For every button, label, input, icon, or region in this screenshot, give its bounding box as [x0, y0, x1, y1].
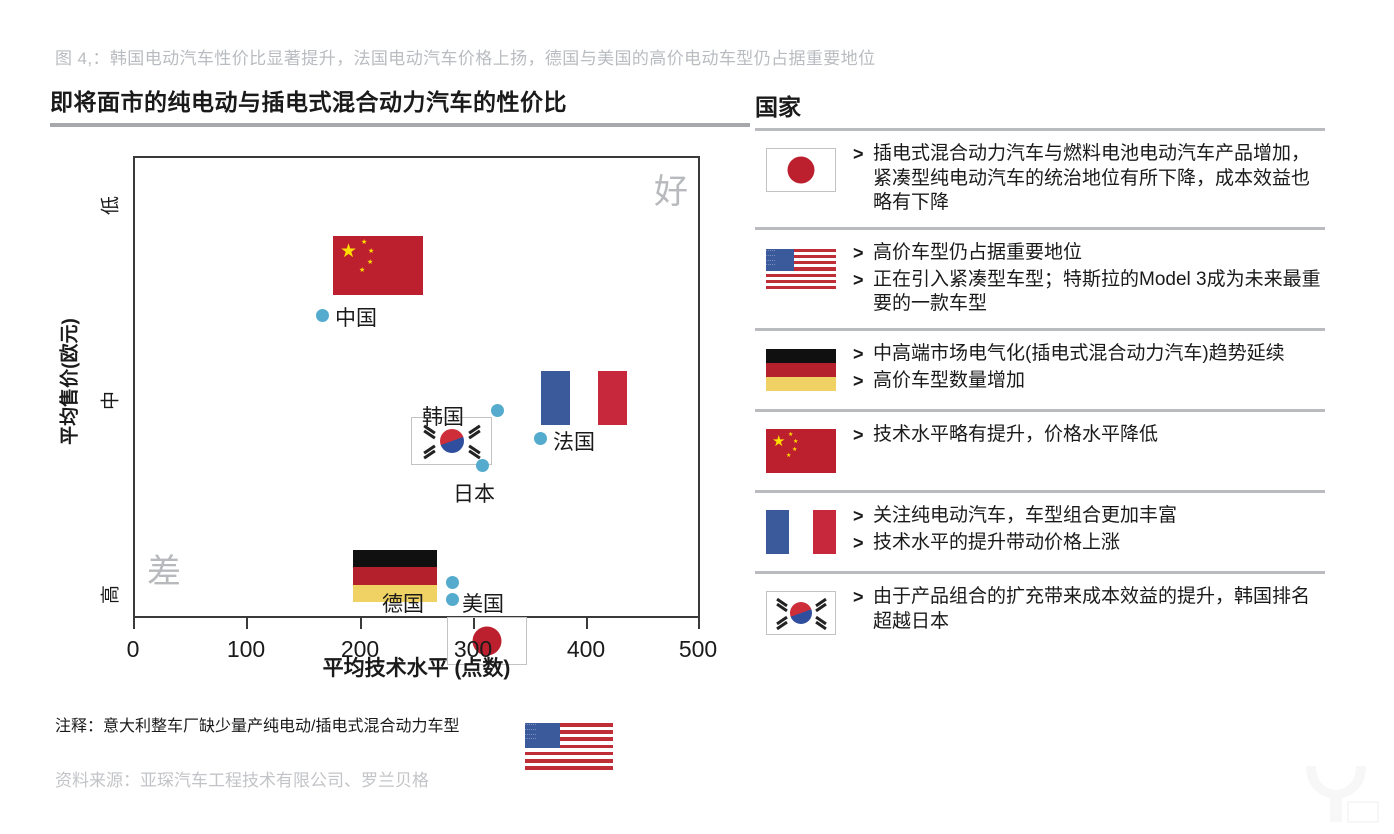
- flag-jp-icon: [766, 148, 836, 192]
- chart-panel-title: 即将面市的纯电动与插电式混合动力汽车的性价比: [50, 88, 750, 123]
- row-body-us: > 高价车型仍占据重要地位 > 正在引入紧凑型车型；特斯拉的Model 3成为未…: [847, 241, 1325, 317]
- watermark-logo: [1288, 756, 1384, 826]
- country-row-fr[interactable]: > 关注纯电动汽车，车型组合更加丰富 > 技术水平的提升带动价格上涨: [755, 490, 1325, 571]
- bullet-text: 高价车型数量增加: [873, 369, 1325, 394]
- chevron-right-icon: >: [853, 268, 873, 292]
- country-panel-title: 国家: [755, 88, 1325, 128]
- y-tick-low: 低: [96, 191, 123, 221]
- chevron-right-icon: >: [853, 342, 873, 366]
- chevron-right-icon: >: [853, 423, 873, 447]
- bullet-item: > 由于产品组合的扩充带来成本效益的提升，韩国排名超越日本: [853, 585, 1325, 634]
- chevron-right-icon: >: [853, 504, 873, 528]
- row-body-de: > 中高端市场电气化(插电式混合动力汽车)趋势延续 > 高价车型数量增加: [847, 342, 1325, 393]
- data-point-fr[interactable]: [534, 432, 547, 445]
- bullet-text: 中高端市场电气化(插电式混合动力汽车)趋势延续: [873, 342, 1325, 367]
- bullet-item: > 高价车型仍占据重要地位: [853, 241, 1325, 266]
- country-row-us[interactable]: ···················· > 高价车型仍占据重要地位 > 正在引…: [755, 227, 1325, 328]
- chevron-right-icon: >: [853, 369, 873, 393]
- country-row-de[interactable]: > 中高端市场电气化(插电式混合动力汽车)趋势延续 > 高价车型数量增加: [755, 328, 1325, 409]
- bullet-item: > 技术水平略有提升，价格水平降低: [853, 423, 1325, 448]
- bullet-item: > 技术水平的提升带动价格上涨: [853, 531, 1325, 556]
- flag-cell-cn: ★ ★ ★ ★ ★: [755, 423, 847, 479]
- chart-flag-cn: ★ ★ ★ ★ ★: [333, 236, 423, 295]
- bullet-text: 技术水平的提升带动价格上涨: [873, 531, 1325, 556]
- x-axis: 0 100 200 300 400 500: [133, 618, 700, 619]
- flag-cell-fr: [755, 504, 847, 560]
- country-row-kr[interactable]: > 由于产品组合的扩充带来成本效益的提升，韩国排名超越日本: [755, 571, 1325, 652]
- data-point-us[interactable]: [446, 576, 459, 589]
- chart-flag-fr: [541, 371, 627, 425]
- figure-caption: 图 4,：韩国电动汽车性价比显著提升，法国电动汽车价格上扬，德国与美国的高价电动…: [55, 44, 1355, 69]
- data-label-de: 德国: [382, 588, 424, 618]
- flag-cn-icon: ★ ★ ★ ★ ★: [766, 429, 836, 473]
- data-point-kr[interactable]: [491, 404, 504, 417]
- x-axis-title: 平均技术水平 (点数): [133, 652, 700, 682]
- annotation-bad: 差: [147, 544, 181, 593]
- data-label-cn: 中国: [335, 302, 377, 332]
- data-label-fr: 法国: [553, 426, 595, 456]
- country-row-cn[interactable]: ★ ★ ★ ★ ★ > 技术水平略有提升，价格水平降低: [755, 409, 1325, 490]
- y-tick-high: 高: [96, 580, 123, 610]
- flag-cell-jp: [755, 142, 847, 198]
- bullet-text: 高价车型仍占据重要地位: [873, 241, 1325, 266]
- chevron-right-icon: >: [853, 585, 873, 609]
- data-label-jp: 日本: [453, 478, 495, 508]
- chart-title-divider: [50, 123, 750, 127]
- data-label-kr: 韩国: [422, 401, 464, 431]
- flag-kr-icon: [766, 591, 836, 635]
- flag-de-icon: [766, 349, 836, 391]
- annotation-good: 好: [654, 164, 688, 213]
- country-row-jp[interactable]: > 插电式混合动力汽车与燃料电池电动汽车产品增加，紧凑型纯电动汽车的统治地位有所…: [755, 128, 1325, 227]
- bullet-text: 插电式混合动力汽车与燃料电池电动汽车产品增加，紧凑型纯电动汽车的统治地位有所下降…: [873, 142, 1325, 216]
- bullet-text: 技术水平略有提升，价格水平降低: [873, 423, 1325, 448]
- footnote: 注释：意大利整车厂缺少量产纯电动/插电式混合动力车型: [55, 712, 459, 736]
- data-point-cn[interactable]: [316, 309, 329, 322]
- country-panel: 国家 > 插电式混合动力汽车与燃料电池电动汽车产品增加，紧凑型纯电动汽车的统治地…: [755, 88, 1325, 652]
- flag-cell-de: [755, 342, 847, 398]
- source-line: 资料来源：亚琛汽车工程技术有限公司、罗兰贝格: [55, 766, 429, 791]
- data-point-de[interactable]: [446, 593, 459, 606]
- scatter-chart: 平均售价(欧元) 低 中 高 好 差 ★ ★ ★ ★ ★ 中国 韩国: [50, 140, 750, 710]
- bullet-text: 关注纯电动汽车，车型组合更加丰富: [873, 504, 1325, 529]
- chart-flag-us: ························: [525, 723, 613, 770]
- data-label-us: 美国: [462, 588, 504, 618]
- y-axis-title: 平均售价(欧元): [55, 102, 82, 662]
- row-body-cn: > 技术水平略有提升，价格水平降低: [847, 423, 1325, 448]
- chart-panel-header: 即将面市的纯电动与插电式混合动力汽车的性价比: [50, 88, 750, 127]
- row-body-fr: > 关注纯电动汽车，车型组合更加丰富 > 技术水平的提升带动价格上涨: [847, 504, 1325, 555]
- flag-fr-icon: [766, 510, 836, 554]
- flag-cell-kr: [755, 585, 847, 641]
- bullet-item: > 中高端市场电气化(插电式混合动力汽车)趋势延续: [853, 342, 1325, 367]
- row-body-jp: > 插电式混合动力汽车与燃料电池电动汽车产品增加，紧凑型纯电动汽车的统治地位有所…: [847, 142, 1325, 216]
- plot-area: 好 差 ★ ★ ★ ★ ★ 中国 韩国 法: [133, 156, 700, 618]
- bullet-item: > 高价车型数量增加: [853, 369, 1325, 394]
- chevron-right-icon: >: [853, 142, 873, 166]
- chevron-right-icon: >: [853, 241, 873, 265]
- bullet-item: > 正在引入紧凑型车型；特斯拉的Model 3成为未来最重要的一款车型: [853, 268, 1325, 317]
- chevron-right-icon: >: [853, 531, 873, 555]
- flag-us-icon: ····················: [766, 249, 836, 289]
- y-tick-mid: 中: [96, 386, 123, 416]
- bullet-item: > 插电式混合动力汽车与燃料电池电动汽车产品增加，紧凑型纯电动汽车的统治地位有所…: [853, 142, 1325, 216]
- data-point-jp[interactable]: [476, 459, 489, 472]
- bullet-item: > 关注纯电动汽车，车型组合更加丰富: [853, 504, 1325, 529]
- bullet-text: 正在引入紧凑型车型；特斯拉的Model 3成为未来最重要的一款车型: [873, 268, 1325, 317]
- bullet-text: 由于产品组合的扩充带来成本效益的提升，韩国排名超越日本: [873, 585, 1325, 634]
- flag-cell-us: ····················: [755, 241, 847, 297]
- row-body-kr: > 由于产品组合的扩充带来成本效益的提升，韩国排名超越日本: [847, 585, 1325, 634]
